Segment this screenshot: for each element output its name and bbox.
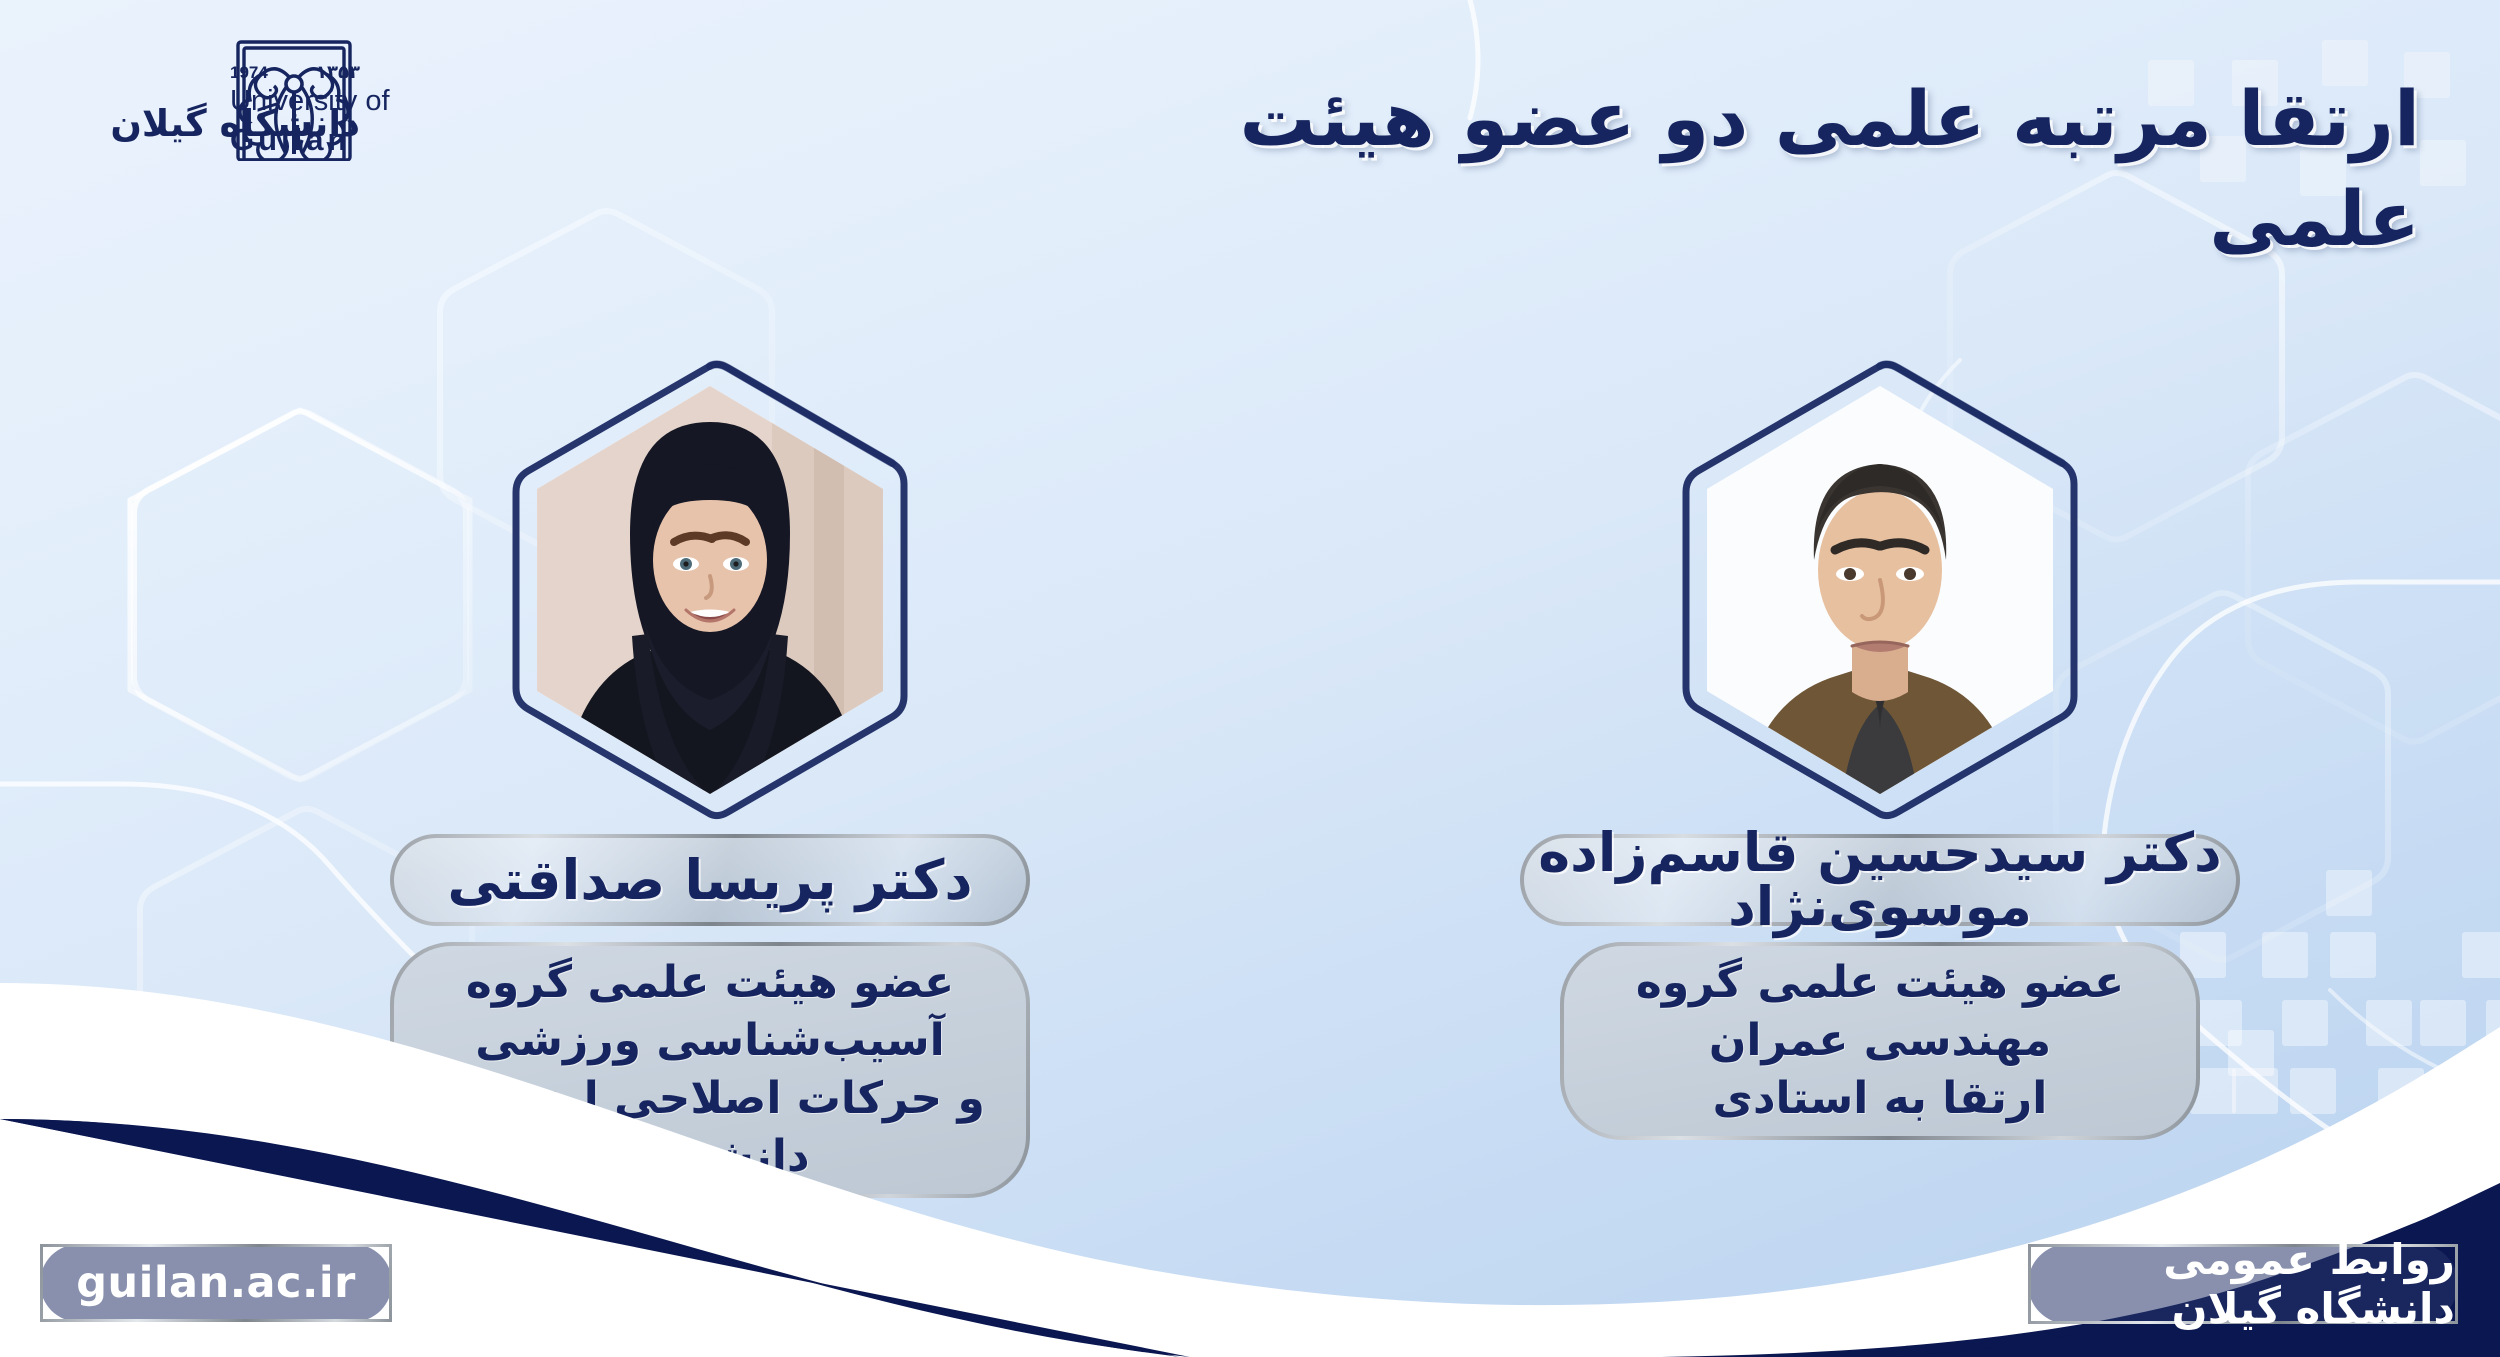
logo-year-fa: ۱۳۵۳ bbox=[316, 62, 360, 83]
logo-name-fa: دانشگاه گیلان bbox=[110, 102, 360, 145]
website-badge[interactable]: guilan.ac.ir bbox=[40, 1244, 392, 1322]
public-relations-badge: روابط عمومی دانشگاه گیلان bbox=[2028, 1244, 2458, 1324]
university-logo: 1974 University of Guilan ۱۳۵۳ دانشگاه گ… bbox=[78, 26, 548, 161]
website-url: guilan.ac.ir bbox=[76, 1258, 356, 1308]
public-relations-label: روابط عمومی دانشگاه گیلان bbox=[2031, 1235, 2455, 1333]
hex-photo-frame bbox=[500, 360, 920, 820]
logo-year-en: 1974 bbox=[230, 63, 268, 82]
hex-photo-frame bbox=[1670, 360, 2090, 820]
banner-canvas: 1974 University of Guilan ۱۳۵۳ دانشگاه گ… bbox=[0, 0, 2500, 1357]
page-title: ارتقا مرتبه علمی دو عضو هیئت علمی bbox=[1020, 69, 2420, 270]
